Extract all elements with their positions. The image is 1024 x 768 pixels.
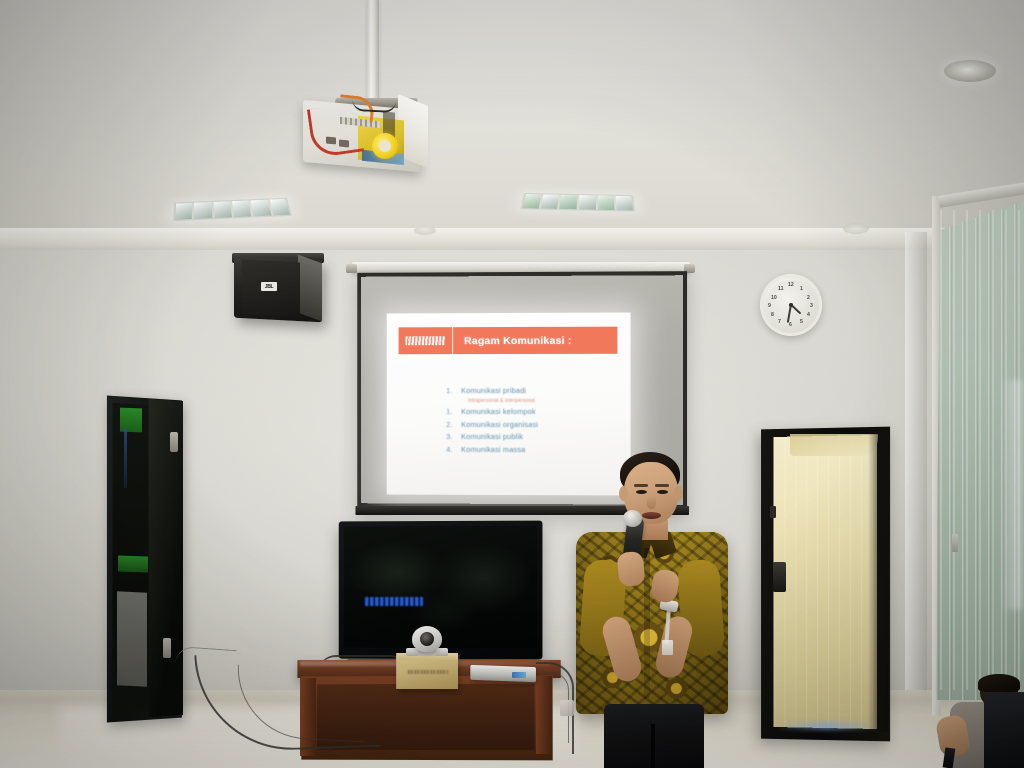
clock-numeral: 9 [768,303,771,309]
presenter-eyebrow-right [655,484,669,487]
presenter-hand-left [616,551,645,588]
id-card [662,640,673,655]
list-item-label: Komunikasi kelompok [461,406,536,418]
blind-daylight-glow [1000,380,1022,610]
tv-onscreen-message [365,597,423,606]
list-item-label: Komunikasi organisasi [461,419,538,431]
slide-logo [399,327,454,354]
list-item-number: 3. [446,431,461,443]
clock-center-pin [789,303,793,307]
clock-numeral: 10 [771,295,777,301]
slide-title: Ragam Komunikasi : [453,334,571,346]
door-right-edge-shadow [868,432,888,732]
door-left-grey-panel [117,591,147,687]
slide-header-bar: Ragam Komunikasi : [399,327,618,355]
list-item-number: 2. [446,419,461,431]
jbl-logo: JBL [261,282,277,291]
seminar-room-photo: JBL Ragam Komunikasi : 1. Komunikasi pri… [0,0,1024,768]
clock-numeral: 8 [771,312,774,318]
list-item: 4. Komunikasi massa [446,444,538,457]
silver-media-device [470,665,536,682]
list-item-number: 1. [446,406,461,418]
clock-numeral: 1 [800,286,803,292]
slide-list: 1. Komunikasi pribadi Intrapersonal & in… [446,385,538,456]
list-item-number: 4. [446,444,461,456]
presenter-mouth [642,512,661,519]
clock-numeral: 11 [778,286,783,292]
chair-back [984,692,1024,768]
clock-minute-hand [787,305,792,323]
door-left-handle-top[interactable] [170,432,178,452]
cardboard-box-print [408,670,448,674]
clock-face: 12 1 2 3 4 5 6 7 8 9 10 11 [766,280,816,330]
wall-clock: 12 1 2 3 4 5 6 7 8 9 10 11 [760,274,822,336]
trouser-seam [651,724,655,768]
presenter-ear-left [619,486,628,501]
presenter-ear-right [674,486,683,501]
list-item: 1. Komunikasi pribadi [446,385,538,397]
list-item: 1. Komunikasi kelompok [446,406,538,418]
wall-corner [905,232,927,732]
clock-numeral: 12 [788,282,794,288]
presenter-nose [647,496,656,509]
clock-numeral: 2 [807,295,810,301]
list-item-label: Komunikasi pribadi [461,385,526,397]
attendee-hair [978,674,1020,692]
list-item-number: 1. [446,385,461,397]
projector-lens [372,133,398,159]
list-item-label: Komunikasi massa [461,444,525,457]
list-item-subtitle: Intrapersonal & interpersonal [468,397,538,406]
shirt-placket [644,548,650,698]
door-right-curtain-top [790,434,878,456]
presenter-eye-right [657,490,668,494]
door-left-green-panel-bottom [118,555,148,572]
door-right-floor-light [775,722,879,730]
clock-numeral: 3 [810,303,813,309]
door-left-blue-strip [124,428,127,488]
screen-bracket-left [346,264,357,273]
seated-attendee [922,676,1024,768]
ceiling-downlight-small [843,223,869,234]
door-right-handle[interactable] [773,562,786,592]
tv-screen [344,526,538,649]
door-left-handle-bottom[interactable] [163,638,171,658]
clock-numeral: 4 [807,312,810,318]
device-badge [512,672,526,678]
projector-mount-pole [367,0,379,106]
brand-logo-mark-icon [406,336,446,345]
door-right-curtain [774,435,877,729]
clock-numeral: 7 [778,319,781,325]
presenter-eye-left [636,490,647,494]
window-latch[interactable] [952,534,958,552]
presenter [556,448,736,768]
camera-lens-icon [420,632,434,646]
ceiling-downlight [944,60,996,82]
ceiling-grid-light-right [520,193,635,212]
clock-numeral: 6 [789,322,792,328]
list-item-label: Komunikasi publik [461,431,523,443]
list-item: 2. Komunikasi organisasi [446,419,538,431]
list-item: 3. Komunikasi publik [446,431,538,444]
door-right-lock[interactable] [770,506,776,518]
smoke-detector [414,226,436,235]
presenter-eyebrow-left [634,484,648,487]
speaker-side [298,255,322,322]
clock-numeral: 5 [800,319,803,325]
